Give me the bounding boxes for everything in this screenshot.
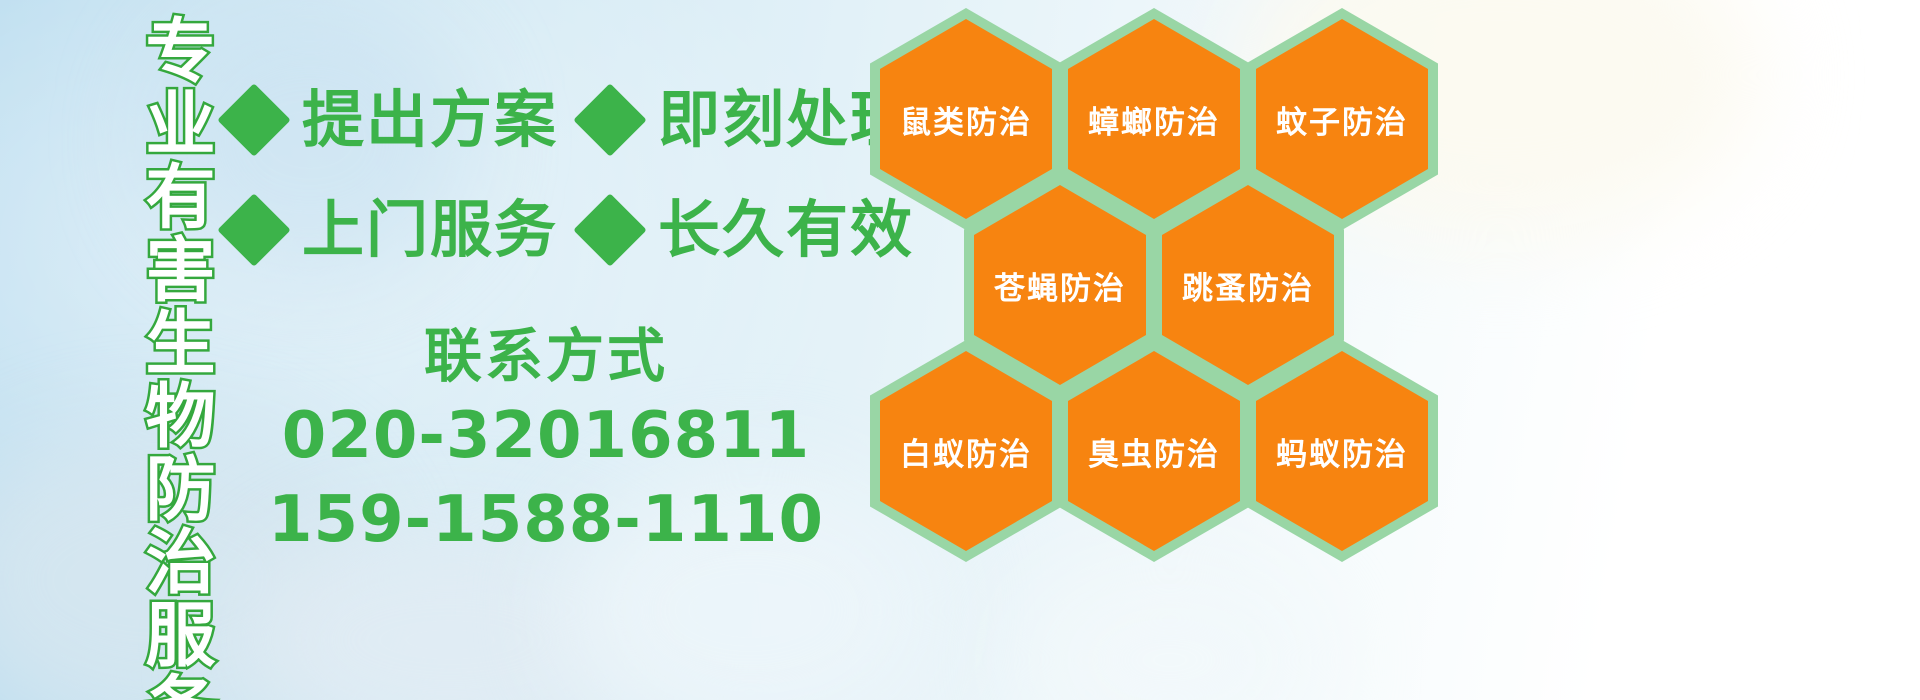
hex-service-cell[interactable]: 臭虫防治 [1058,340,1250,562]
diamond-icon [217,193,291,267]
hex-service-label: 苍蝇防治 [994,263,1126,308]
banner-canvas: 专业有害生物防治服务 提出方案 即刻处理 上门服务 长久有效 联系方式 020-… [0,0,1920,700]
contact-block: 联系方式 020-32016811 159-1588-1110 [236,318,856,562]
contact-title: 联系方式 [236,318,856,394]
diamond-icon [573,193,647,267]
hex-service-label: 蟑螂防治 [1088,97,1220,142]
service-honeycomb: 鼠类防治蟑螂防治蚊子防治苍蝇防治跳蚤防治白蚁防治臭虫防治蚂蚁防治 [862,0,1462,700]
hex-service-cell[interactable]: 蚂蚁防治 [1246,340,1438,562]
hex-service-label: 鼠类防治 [900,97,1032,142]
hex-service-label: 跳蚤防治 [1182,263,1314,308]
feature-row-1: 提出方案 即刻处理 [228,86,914,154]
vertical-headline: 专业有害生物防治服务 [106,14,210,560]
hex-service-label: 蚊子防治 [1276,97,1408,142]
feature-label: 提出方案 [302,86,558,154]
hex-service-label: 臭虫防治 [1088,429,1220,474]
feature-label: 上门服务 [302,196,558,264]
phone-number-mobile[interactable]: 159-1588-1110 [236,478,856,562]
diamond-icon [217,83,291,157]
phone-number-landline[interactable]: 020-32016811 [236,394,856,478]
diamond-icon [573,83,647,157]
hex-service-label: 蚂蚁防治 [1276,429,1408,474]
hex-service-cell[interactable]: 白蚁防治 [870,340,1062,562]
hex-service-label: 白蚁防治 [900,429,1032,474]
feature-row-2: 上门服务 长久有效 [228,196,914,264]
